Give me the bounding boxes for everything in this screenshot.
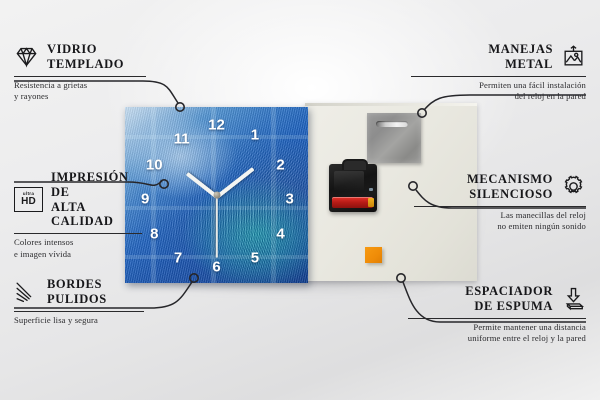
polished-edges-icon [14,279,39,304]
connector-endpoint-bordes [190,274,198,282]
callout-mecanismo-silencioso: MECANISMO SILENCIOSO Las manecillas del … [414,172,586,233]
callout-title-block: BORDES PULIDOS [47,277,107,307]
callout-description-line-1: Superficie lisa y segura [14,315,144,327]
callout-vidrio-templado: VIDRIO TEMPLADO Resistencia a grietas y … [14,42,146,103]
callout-divider [411,76,586,77]
callout-title-block: VIDRIO TEMPLADO [47,42,124,72]
callout-description-line-2: uniforme entre el reloj y la pared [408,333,586,345]
connector-endpoint-espaciador [397,274,405,282]
diamond-icon [14,44,39,69]
callout-title-block: MANEJAS METAL [488,42,553,72]
connector-endpoint-vidrio [176,103,184,111]
callout-espaciador-de-espuma: ESPACIADOR DE ESPUMA Permite mantener un… [408,284,586,345]
connector-endpoint-manejas [418,109,426,117]
callout-title-line-1: VIDRIO [47,42,124,57]
callout-title-line-2: TEMPLADO [47,57,124,72]
callout-bordes-pulidos: BORDES PULIDOS Superficie lisa y segura [14,277,144,326]
callout-title-line-1: BORDES [47,277,107,292]
callout-title-line-1: IMPRESIÓN DE [51,170,142,200]
callout-title-line-2: METAL [488,57,553,72]
picture-hanger-icon [561,44,586,69]
callout-manejas-metal: MANEJAS METAL Permiten una fácil instala… [411,42,586,103]
callout-divider [14,233,142,234]
callout-title-line-1: ESPACIADOR [465,284,553,299]
ultra-hd-icon-large-text: HD [21,197,36,207]
callout-divider [14,311,144,312]
callout-description-line-1: Colores intensos [14,237,142,249]
callout-header: ESPACIADOR DE ESPUMA [408,284,586,314]
connector-endpoint-impresion [160,180,168,188]
ultra-hd-icon: ultra HD [14,187,43,212]
callout-description-line-1: Las manecillas del reloj [414,210,586,222]
callout-title-line-1: MECANISMO [467,172,553,187]
callout-divider [408,318,586,319]
callout-description-line-2: y rayones [14,91,146,103]
callout-description-line-1: Resistencia a grietas [14,80,146,92]
callout-title-line-2: ALTA CALIDAD [51,200,142,230]
callout-description-line-1: Permite mantener una distancia [408,322,586,334]
callout-header: BORDES PULIDOS [14,277,144,307]
callout-description-line-2: e imagen vívida [14,249,142,261]
callout-description-line-2: del reloj en la pared [411,91,586,103]
callout-title-line-1: MANEJAS [488,42,553,57]
callout-header: ultra HD IMPRESIÓN DE ALTA CALIDAD [14,170,142,229]
callout-divider [414,206,586,207]
callout-title-line-2: SILENCIOSO [467,187,553,202]
callout-description-line-2: no emiten ningún sonido [414,221,586,233]
callout-header: VIDRIO TEMPLADO [14,42,146,72]
gear-icon [561,174,586,199]
callout-title-line-2: DE ESPUMA [465,299,553,314]
callout-description-line-1: Permiten una fácil instalación [411,80,586,92]
callout-title-block: ESPACIADOR DE ESPUMA [465,284,553,314]
callout-title-block: IMPRESIÓN DE ALTA CALIDAD [51,170,142,229]
callout-impresion-alta-calidad: ultra HD IMPRESIÓN DE ALTA CALIDAD Color… [14,170,142,260]
infographic-canvas: 12 1 2 3 4 5 6 7 8 9 10 11 [0,0,600,400]
callout-title-block: MECANISMO SILENCIOSO [467,172,553,202]
callout-header: MANEJAS METAL [411,42,586,72]
foam-spacer-icon [561,286,586,311]
callout-title-line-2: PULIDOS [47,292,107,307]
callout-header: MECANISMO SILENCIOSO [414,172,586,202]
callout-divider [14,76,146,77]
